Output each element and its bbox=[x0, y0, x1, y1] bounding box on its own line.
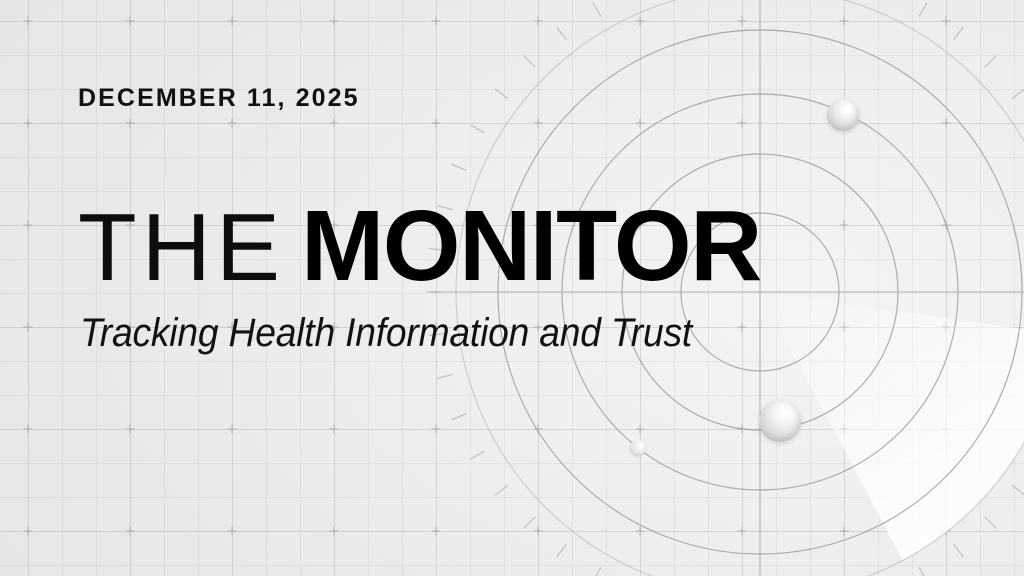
title-word-the: THE bbox=[78, 194, 285, 301]
grid-plus-mark bbox=[126, 527, 135, 536]
grid-plus-mark bbox=[636, 119, 645, 128]
grid-plus-mark bbox=[534, 119, 543, 128]
grid-plus-mark bbox=[432, 527, 441, 536]
title-block: DECEMBER 11, 2025 THEMONITOR Tracking He… bbox=[78, 86, 360, 111]
grid-plus-mark bbox=[24, 425, 33, 434]
blip-small bbox=[630, 440, 646, 456]
grid-plus-mark bbox=[738, 17, 747, 26]
grid-plus-mark bbox=[126, 119, 135, 128]
grid-plus-mark bbox=[738, 527, 747, 536]
blip-large bbox=[759, 400, 801, 442]
grid-plus-mark bbox=[636, 527, 645, 536]
grid-plus-mark bbox=[942, 323, 951, 332]
grid-plus-mark bbox=[636, 425, 645, 434]
grid-plus-mark bbox=[24, 119, 33, 128]
grid-plus-mark bbox=[942, 221, 951, 230]
grid-plus-mark bbox=[636, 17, 645, 26]
grid-plus-mark bbox=[534, 17, 543, 26]
grid-plus-mark bbox=[738, 119, 747, 128]
grid-plus-mark bbox=[330, 527, 339, 536]
grid-plus-mark bbox=[840, 425, 849, 434]
grid-plus-mark bbox=[24, 221, 33, 230]
page-title: THEMONITOR bbox=[78, 196, 761, 296]
monitor-title-card: DECEMBER 11, 2025 THEMONITOR Tracking He… bbox=[0, 0, 1024, 576]
grid-plus-mark bbox=[840, 323, 849, 332]
grid-plus-mark bbox=[126, 425, 135, 434]
page-subtitle: Tracking Health Information and Trust bbox=[80, 313, 692, 353]
grid-plus-mark bbox=[432, 119, 441, 128]
grid-plus-mark bbox=[228, 17, 237, 26]
grid-plus-mark bbox=[840, 527, 849, 536]
grid-plus-mark bbox=[228, 527, 237, 536]
grid-plus-mark bbox=[330, 17, 339, 26]
grid-plus-mark bbox=[228, 119, 237, 128]
grid-plus-mark bbox=[228, 425, 237, 434]
grid-plus-mark bbox=[432, 425, 441, 434]
grid-plus-mark bbox=[24, 527, 33, 536]
grid-plus-mark bbox=[24, 17, 33, 26]
grid-plus-mark bbox=[840, 17, 849, 26]
grid-plus-mark bbox=[738, 425, 747, 434]
grid-plus-mark bbox=[942, 17, 951, 26]
grid-plus-mark bbox=[942, 425, 951, 434]
issue-date: DECEMBER 11, 2025 bbox=[78, 86, 360, 111]
grid-plus-mark bbox=[126, 17, 135, 26]
grid-plus-mark bbox=[738, 323, 747, 332]
grid-plus-mark bbox=[330, 119, 339, 128]
grid-plus-mark bbox=[840, 221, 849, 230]
blip-medium bbox=[827, 99, 859, 131]
grid-plus-mark bbox=[942, 119, 951, 128]
grid-plus-mark bbox=[534, 425, 543, 434]
grid-plus-mark bbox=[534, 527, 543, 536]
grid-plus-mark bbox=[942, 527, 951, 536]
grid-plus-mark bbox=[24, 323, 33, 332]
grid-plus-mark bbox=[330, 425, 339, 434]
grid-plus-mark bbox=[432, 17, 441, 26]
title-word-monitor: MONITOR bbox=[301, 190, 761, 302]
